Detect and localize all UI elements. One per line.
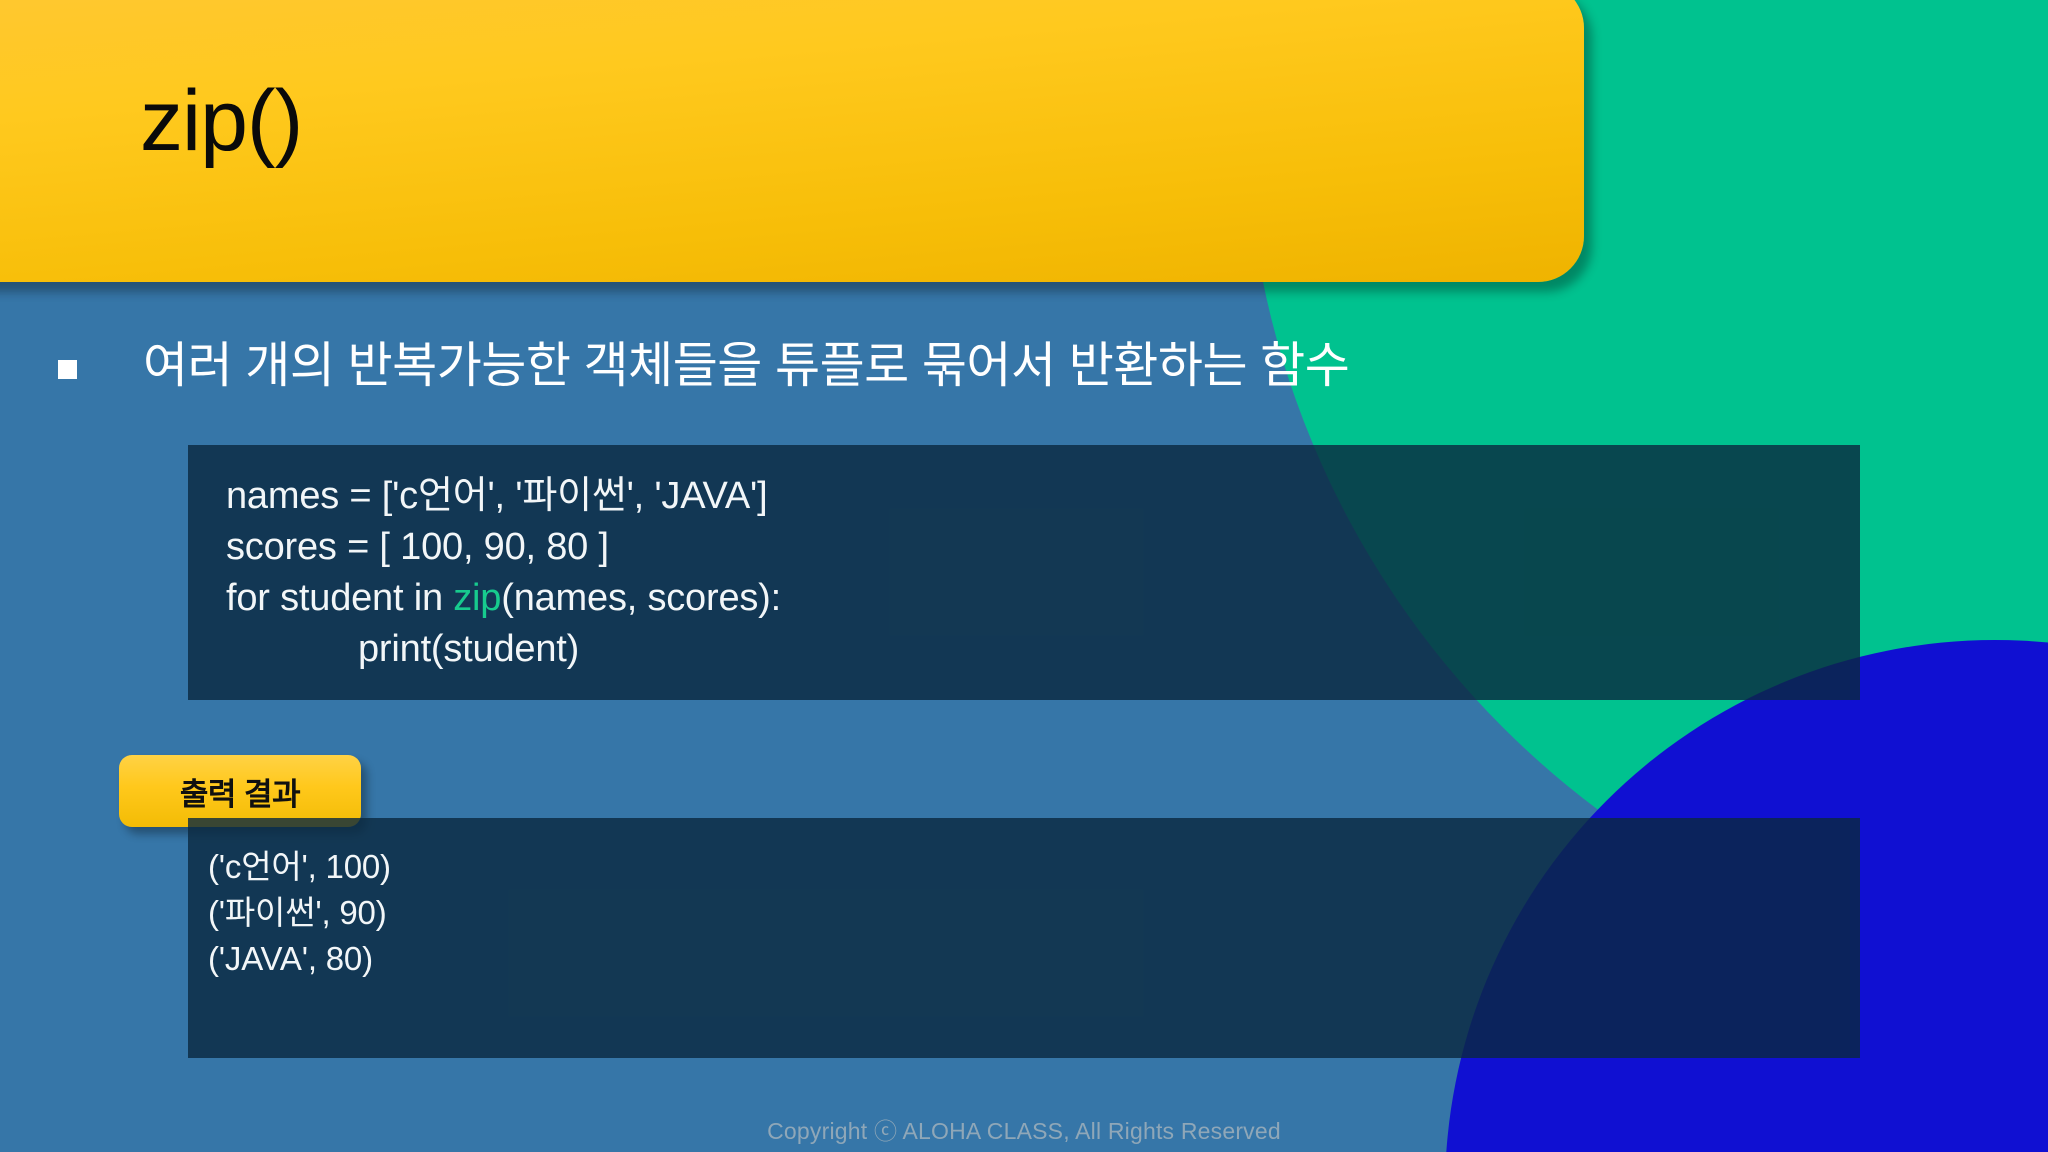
bullet-text: 여러 개의 반복가능한 객체들을 튜플로 묶어서 반환하는 함수 [143,340,1349,394]
bullet-row: 여러 개의 반복가능한 객체들을 튜플로 묶어서 반환하는 함수 [58,336,1758,398]
output-result-badge-label: 출력 결과 [180,769,300,814]
output-block: ('c언어', 100) ('파이썬', 90) ('JAVA', 80) [188,818,1860,1058]
slide-canvas: zip() 여러 개의 반복가능한 객체들을 튜플로 묶어서 반환하는 함수 n… [0,0,2048,1152]
code-line-2: scores = [ 100, 90, 80 ] [226,522,1860,573]
code-line-3-prefix: for student in [226,577,453,619]
code-line-3-suffix: (names, scores): [501,577,781,619]
square-bullet-icon [58,360,77,379]
code-line-4: print(student) [226,624,1860,675]
footer-copyright: Copyright ⓒ ALOHA CLASS, All Rights Rese… [0,1112,2048,1146]
output-line-1: ('c언어', 100) [208,844,1860,890]
page-title: zip() [140,78,302,164]
code-line-1: names = ['c언어', '파이썬', 'JAVA'] [226,471,1860,522]
output-line-3: ('JAVA', 80) [208,936,1860,982]
code-keyword-zip: zip [453,577,501,619]
code-line-3: for student in zip(names, scores): [226,573,1860,624]
output-line-2: ('파이썬', 90) [208,890,1860,936]
code-block: names = ['c언어', '파이썬', 'JAVA'] scores = … [188,445,1860,700]
output-result-badge: 출력 결과 [119,755,361,827]
